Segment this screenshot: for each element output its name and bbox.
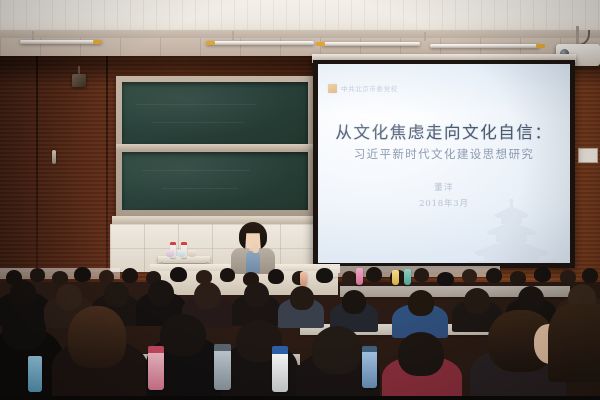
blackboard-lower-panel bbox=[122, 152, 308, 210]
water-flask-cap bbox=[362, 346, 377, 352]
slide-author: 董洋 bbox=[318, 181, 570, 193]
water-flask-cap bbox=[148, 346, 164, 353]
water-flask bbox=[214, 348, 231, 390]
audience-head bbox=[312, 326, 362, 374]
slide-logo: 中共北京市委党校 bbox=[328, 83, 398, 93]
fluorescent-tube-2-cap bbox=[206, 41, 215, 45]
audience-head bbox=[342, 271, 357, 285]
paper-cup-1 bbox=[166, 250, 174, 257]
light-rod-1 bbox=[32, 31, 34, 40]
water-flask-cap bbox=[214, 344, 231, 351]
ceiling-panel-seams bbox=[0, 0, 600, 34]
water-flask bbox=[300, 272, 307, 286]
water-flask bbox=[362, 350, 377, 388]
temple-of-heaven-icon bbox=[460, 199, 564, 263]
audience-head bbox=[510, 271, 526, 285]
water-flask bbox=[272, 352, 288, 392]
audience-head bbox=[408, 290, 434, 316]
audience-head bbox=[464, 288, 490, 314]
fluorescent-tube-1 bbox=[20, 40, 102, 44]
audience-head bbox=[437, 272, 454, 286]
water-flask bbox=[28, 356, 42, 392]
audience-head bbox=[366, 267, 382, 282]
slide-subtitle: 习近平新时代文化建设思想研究 bbox=[318, 146, 570, 162]
party-school-emblem-icon bbox=[328, 84, 337, 93]
audience-head bbox=[74, 267, 91, 282]
wall-plate bbox=[578, 148, 598, 163]
water-flask-cap bbox=[272, 346, 288, 354]
door-handle[interactable] bbox=[52, 150, 56, 164]
water-flask bbox=[392, 270, 399, 285]
audience-head bbox=[170, 267, 187, 282]
audience-head bbox=[30, 268, 45, 282]
audience-head bbox=[104, 282, 129, 307]
audience-head bbox=[518, 286, 544, 312]
wall-speaker-icon bbox=[72, 74, 86, 87]
slide-logo-text: 中共北京市委党校 bbox=[341, 83, 398, 93]
audience-head bbox=[52, 271, 68, 285]
wood-panel-seam-2 bbox=[106, 56, 108, 282]
water-flask bbox=[148, 350, 164, 390]
audience-head bbox=[548, 304, 600, 382]
audience-head bbox=[462, 269, 477, 283]
audience-head bbox=[316, 268, 333, 283]
audience-head bbox=[290, 286, 314, 310]
audience-head bbox=[160, 314, 206, 356]
audience-head bbox=[398, 332, 444, 376]
presenter-hand bbox=[252, 244, 259, 253]
fluorescent-tube-4 bbox=[430, 44, 540, 48]
light-rod-2 bbox=[232, 31, 234, 40]
audience-head bbox=[56, 284, 82, 310]
fluorescent-tube-2 bbox=[206, 41, 314, 45]
light-rod-3 bbox=[424, 32, 426, 41]
bottom-letterbox bbox=[0, 396, 600, 400]
paper-cup-3 bbox=[188, 250, 196, 257]
audience-head bbox=[244, 282, 269, 307]
fluorescent-tube-4-cap bbox=[536, 44, 545, 48]
audience-head bbox=[68, 306, 126, 368]
audience-head bbox=[534, 267, 551, 282]
water-flask bbox=[404, 269, 411, 285]
audience-head bbox=[2, 308, 46, 350]
wood-panel-seam-1 bbox=[36, 56, 38, 282]
audience-head bbox=[560, 270, 576, 284]
audience-head bbox=[342, 290, 366, 314]
lecture-hall-photo: 中共北京市委党校 从文化焦虑走向文化自信： 习近平新时代文化建设思想研究 董洋 … bbox=[0, 0, 600, 400]
blackboard-middle-rail bbox=[116, 144, 314, 151]
water-bottle-2-cap bbox=[181, 242, 187, 245]
fluorescent-tube-3 bbox=[322, 42, 420, 46]
water-flask bbox=[356, 268, 363, 285]
water-bottle-1-cap bbox=[170, 242, 176, 245]
fluorescent-tube-1-cap bbox=[93, 40, 102, 44]
audience-head bbox=[10, 280, 36, 306]
audience-head bbox=[582, 268, 598, 283]
audience-head bbox=[194, 282, 221, 309]
audience-head bbox=[414, 268, 429, 282]
audience-head bbox=[220, 268, 235, 282]
audience-head bbox=[268, 269, 284, 284]
slide-title: 从文化焦虑走向文化自信： bbox=[318, 119, 570, 143]
audience-head bbox=[148, 280, 174, 306]
audience-head bbox=[122, 268, 138, 283]
paper-cup-2 bbox=[177, 250, 185, 257]
blackboard-upper-panel bbox=[122, 82, 308, 144]
audience-head bbox=[486, 268, 502, 283]
fluorescent-tube-3-cap bbox=[316, 42, 325, 46]
audience-area: CU7 bbox=[0, 262, 600, 400]
projection-screen: 中共北京市委党校 从文化焦虑走向文化自信： 习近平新时代文化建设思想研究 董洋 … bbox=[318, 64, 570, 263]
